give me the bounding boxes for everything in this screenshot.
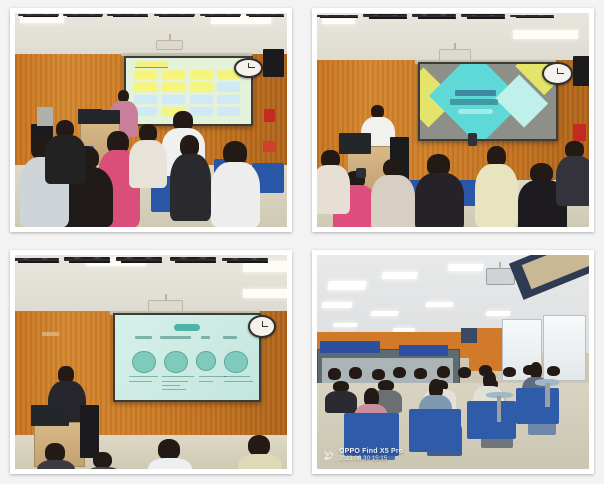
photo-frame xyxy=(10,250,292,474)
slide-box xyxy=(190,70,213,79)
photo-cell-top-right[interactable] xyxy=(302,0,604,242)
chair xyxy=(516,388,560,424)
ceiling-light-panel xyxy=(447,264,484,271)
torso xyxy=(211,162,260,227)
slide-text-line xyxy=(199,376,228,377)
slide-box xyxy=(217,107,240,116)
ceiling-light-panel xyxy=(485,311,511,316)
fan-vent xyxy=(159,16,194,17)
torso xyxy=(415,173,464,227)
slide-heading-label xyxy=(160,336,192,339)
monitor xyxy=(101,110,120,124)
slide-box xyxy=(217,95,240,104)
photo-bottom-right: OPPO Find X5 Pro 2023.06.30 15:15 xyxy=(317,255,589,469)
audience-member xyxy=(556,141,589,205)
slide-text-line xyxy=(162,376,194,377)
audience-member xyxy=(211,141,260,227)
photo-cell-bottom-left[interactable] xyxy=(0,242,302,484)
slide-box xyxy=(217,82,240,91)
slide-header-pill xyxy=(174,324,200,331)
oppo-shot-on-logo xyxy=(324,450,335,461)
camera-watermark: OPPO Find X5 Pro 2023.06.30 15:15 xyxy=(324,448,403,463)
chair xyxy=(409,409,461,452)
ceiling-light-panel xyxy=(327,281,367,290)
head xyxy=(248,435,271,457)
wall-clock xyxy=(248,315,276,338)
head xyxy=(158,439,181,460)
slide-box xyxy=(162,82,185,91)
wall-speaker xyxy=(461,328,477,343)
slide-title-block xyxy=(135,62,167,68)
head xyxy=(414,368,427,379)
slide-circle xyxy=(132,351,156,374)
presenter-head xyxy=(371,105,384,118)
fan-vent xyxy=(121,261,162,263)
slide-circle xyxy=(224,351,248,374)
torso xyxy=(556,156,589,206)
floor-speaker xyxy=(80,405,99,459)
monitor xyxy=(31,405,69,426)
torso xyxy=(129,140,167,189)
torso xyxy=(475,164,519,227)
head xyxy=(349,367,362,379)
phone xyxy=(468,133,478,146)
audience-member xyxy=(37,443,75,469)
ceiling-fan-row xyxy=(15,13,287,43)
presenter-head xyxy=(58,366,73,382)
fan-vent xyxy=(175,261,216,263)
wall-marking xyxy=(42,332,58,336)
head xyxy=(328,368,341,380)
table-leg xyxy=(497,396,501,422)
torso xyxy=(317,165,350,214)
fan-vent xyxy=(369,17,407,19)
audience-member xyxy=(45,120,86,184)
projection-screen xyxy=(418,62,558,141)
slide-text-line xyxy=(162,385,179,386)
photo-bottom-left xyxy=(15,255,287,469)
photo-top-right xyxy=(317,13,589,227)
fan-vent xyxy=(18,261,59,263)
slide-text-line xyxy=(162,381,188,382)
fan-vent xyxy=(67,16,102,17)
audience-member xyxy=(238,435,282,469)
wall-speaker xyxy=(263,49,285,77)
photo-collage: OPPO Find X5 Pro 2023.06.30 15:15 xyxy=(0,0,604,484)
fan-vent xyxy=(467,17,505,19)
fan-vent xyxy=(418,17,456,19)
slide-box xyxy=(162,70,185,79)
ceiling-fan-row xyxy=(15,255,287,298)
head xyxy=(45,443,65,462)
torso xyxy=(238,454,282,469)
chair xyxy=(467,401,516,440)
fan-vent xyxy=(113,16,148,17)
head xyxy=(93,452,111,468)
phone xyxy=(356,168,366,178)
fan-vent xyxy=(69,261,110,263)
audience-member-with-phone xyxy=(475,146,519,227)
slide-box xyxy=(190,95,213,104)
wall-clock xyxy=(542,62,573,85)
fire-alarm xyxy=(573,124,587,141)
fan-vent xyxy=(515,17,553,18)
slide-text-line xyxy=(162,389,185,390)
bookshelf-books xyxy=(399,345,448,356)
head xyxy=(437,366,450,378)
torso xyxy=(37,460,75,469)
slide-text-line xyxy=(224,376,250,377)
photo-cell-bottom-right[interactable]: OPPO Find X5 Pro 2023.06.30 15:15 xyxy=(302,242,604,484)
photo-frame xyxy=(10,8,292,232)
slide-subtitle-text xyxy=(450,99,499,105)
audience-member xyxy=(86,452,121,469)
projector xyxy=(156,40,182,51)
photo-top-left xyxy=(15,13,287,227)
slide-heading-label xyxy=(135,336,152,339)
slide-text-line xyxy=(129,381,152,382)
slide-content xyxy=(115,315,259,401)
audience-member xyxy=(148,439,192,469)
red-cup xyxy=(263,141,277,152)
photo-frame: OPPO Find X5 Pro 2023.06.30 15:15 xyxy=(312,250,594,474)
slide-box xyxy=(162,95,185,104)
audience-member xyxy=(317,150,350,214)
slide-content xyxy=(420,64,556,139)
fan-vent xyxy=(320,17,358,18)
projector xyxy=(486,268,515,285)
photo-cell-top-left[interactable] xyxy=(0,0,302,242)
ceiling-light-panel xyxy=(322,302,353,308)
fan-vent xyxy=(227,261,268,263)
audience-member xyxy=(415,154,464,227)
bookshelf-books xyxy=(320,341,380,354)
torso xyxy=(86,467,121,469)
fan-vent xyxy=(23,16,58,17)
watermark-model: OPPO Find X5 Pro xyxy=(339,448,403,456)
wall-clock xyxy=(234,58,262,78)
slide-text-line xyxy=(199,381,213,382)
watermark-date: 2023.06.30 15:15 xyxy=(339,456,403,463)
torso xyxy=(148,458,192,469)
wall-speaker xyxy=(573,56,589,86)
slide-heading-label xyxy=(223,336,237,339)
ceiling-fan-row xyxy=(317,13,589,47)
watermark-text: OPPO Find X5 Pro 2023.06.30 15:15 xyxy=(339,448,403,463)
slide-footer-pill xyxy=(458,109,493,113)
table-leg xyxy=(545,383,549,407)
torso xyxy=(371,175,415,227)
fan-vent xyxy=(249,16,284,17)
photo-frame xyxy=(312,8,594,232)
fire-alarm xyxy=(264,109,275,122)
slide-text-line xyxy=(129,376,158,377)
audience-member xyxy=(170,135,211,221)
ceiling-light-panel xyxy=(381,272,418,279)
fan-vent xyxy=(205,16,240,17)
head xyxy=(393,367,406,379)
slide-box xyxy=(190,82,213,91)
ceiling-light-panel xyxy=(371,311,399,316)
torso xyxy=(45,135,86,184)
audience-member xyxy=(129,124,167,188)
slide-title-text xyxy=(455,90,496,97)
slide-box xyxy=(134,70,157,79)
audience-member xyxy=(371,159,415,227)
projection-screen xyxy=(113,313,261,403)
slide-circle xyxy=(164,351,188,374)
torso xyxy=(170,154,211,221)
ceiling-light-panel xyxy=(425,302,453,307)
slide-circle xyxy=(196,351,217,371)
slide-text-line xyxy=(224,381,253,382)
slide-heading-label xyxy=(201,336,210,339)
